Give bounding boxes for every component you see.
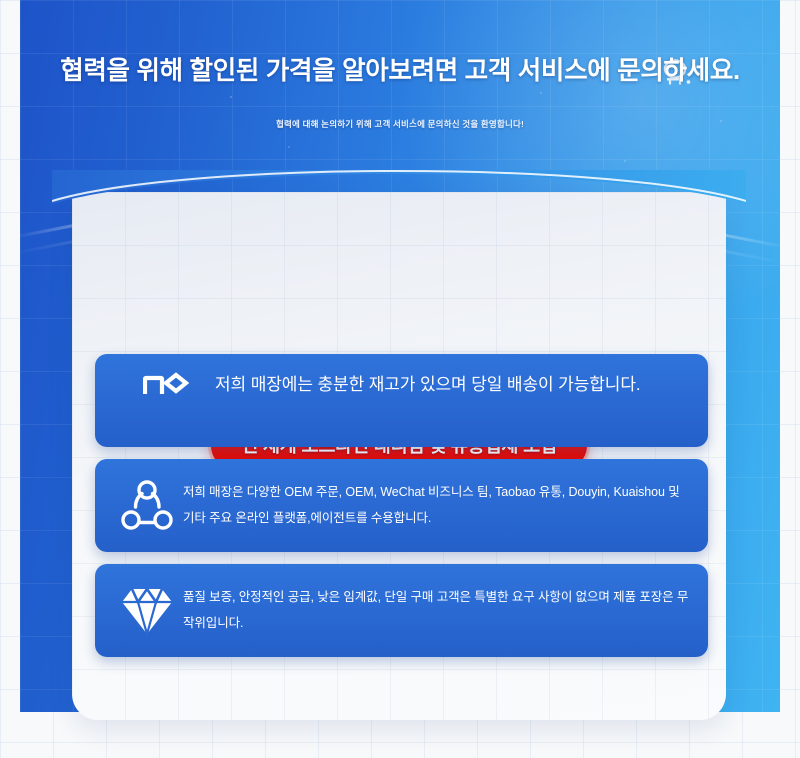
page-subtitle: 협력에 대해 논의하기 위해 고객 서비스에 문의하신 것을 환영합니다! (20, 118, 780, 130)
feature-card-stock[interactable]: 저희 매장에는 충분한 재고가 있으며 당일 배송이 가능합니다. (95, 354, 708, 447)
diamond-icon (111, 584, 183, 638)
content-panel: 전 세계 오프라인 대리점 및 유통업체 모집 온라인 상점 소규모 비즈니스 … (72, 192, 726, 720)
sparkle-speck (288, 146, 290, 148)
feature-card-text: 저희 매장에는 충분한 재고가 있으며 당일 배송이 가능합니다. (215, 375, 641, 394)
sparkle-speck (624, 160, 626, 162)
feature-card-quality[interactable]: 품질 보증, 안정적인 공급, 낮은 임계값, 단일 구매 고객은 특별한 요구… (95, 564, 708, 657)
feature-card-text-wrapper: 저희 매장에는 충분한 재고가 있으며 당일 배송이 가능합니다. (111, 372, 690, 402)
promo-page: 협력을 위해 할인된 가격을 알아보려면 고객 서비스에 문의하세요. 협력에 … (0, 0, 800, 758)
feature-card-list: 저희 매장에는 충분한 재고가 있으며 당일 배송이 가능합니다. 저희 매장은… (95, 354, 708, 657)
sparkle-speck (540, 92, 542, 94)
page-title: 협력을 위해 할인된 가격을 알아보려면 고객 서비스에 문의하세요. (20, 50, 780, 87)
feature-card-channels[interactable]: 저희 매장은 다양한 OEM 주문, OEM, WeChat 비즈니스 팀, T… (95, 459, 708, 552)
network-share-icon (111, 477, 183, 535)
feature-card-text: 품질 보증, 안정적인 공급, 낮은 임계값, 단일 구매 고객은 특별한 요구… (183, 585, 690, 636)
package-box-icon (143, 372, 189, 402)
feature-card-text: 저희 매장은 다양한 OEM 주문, OEM, WeChat 비즈니스 팀, T… (183, 480, 690, 531)
sparkle-speck (230, 96, 232, 98)
